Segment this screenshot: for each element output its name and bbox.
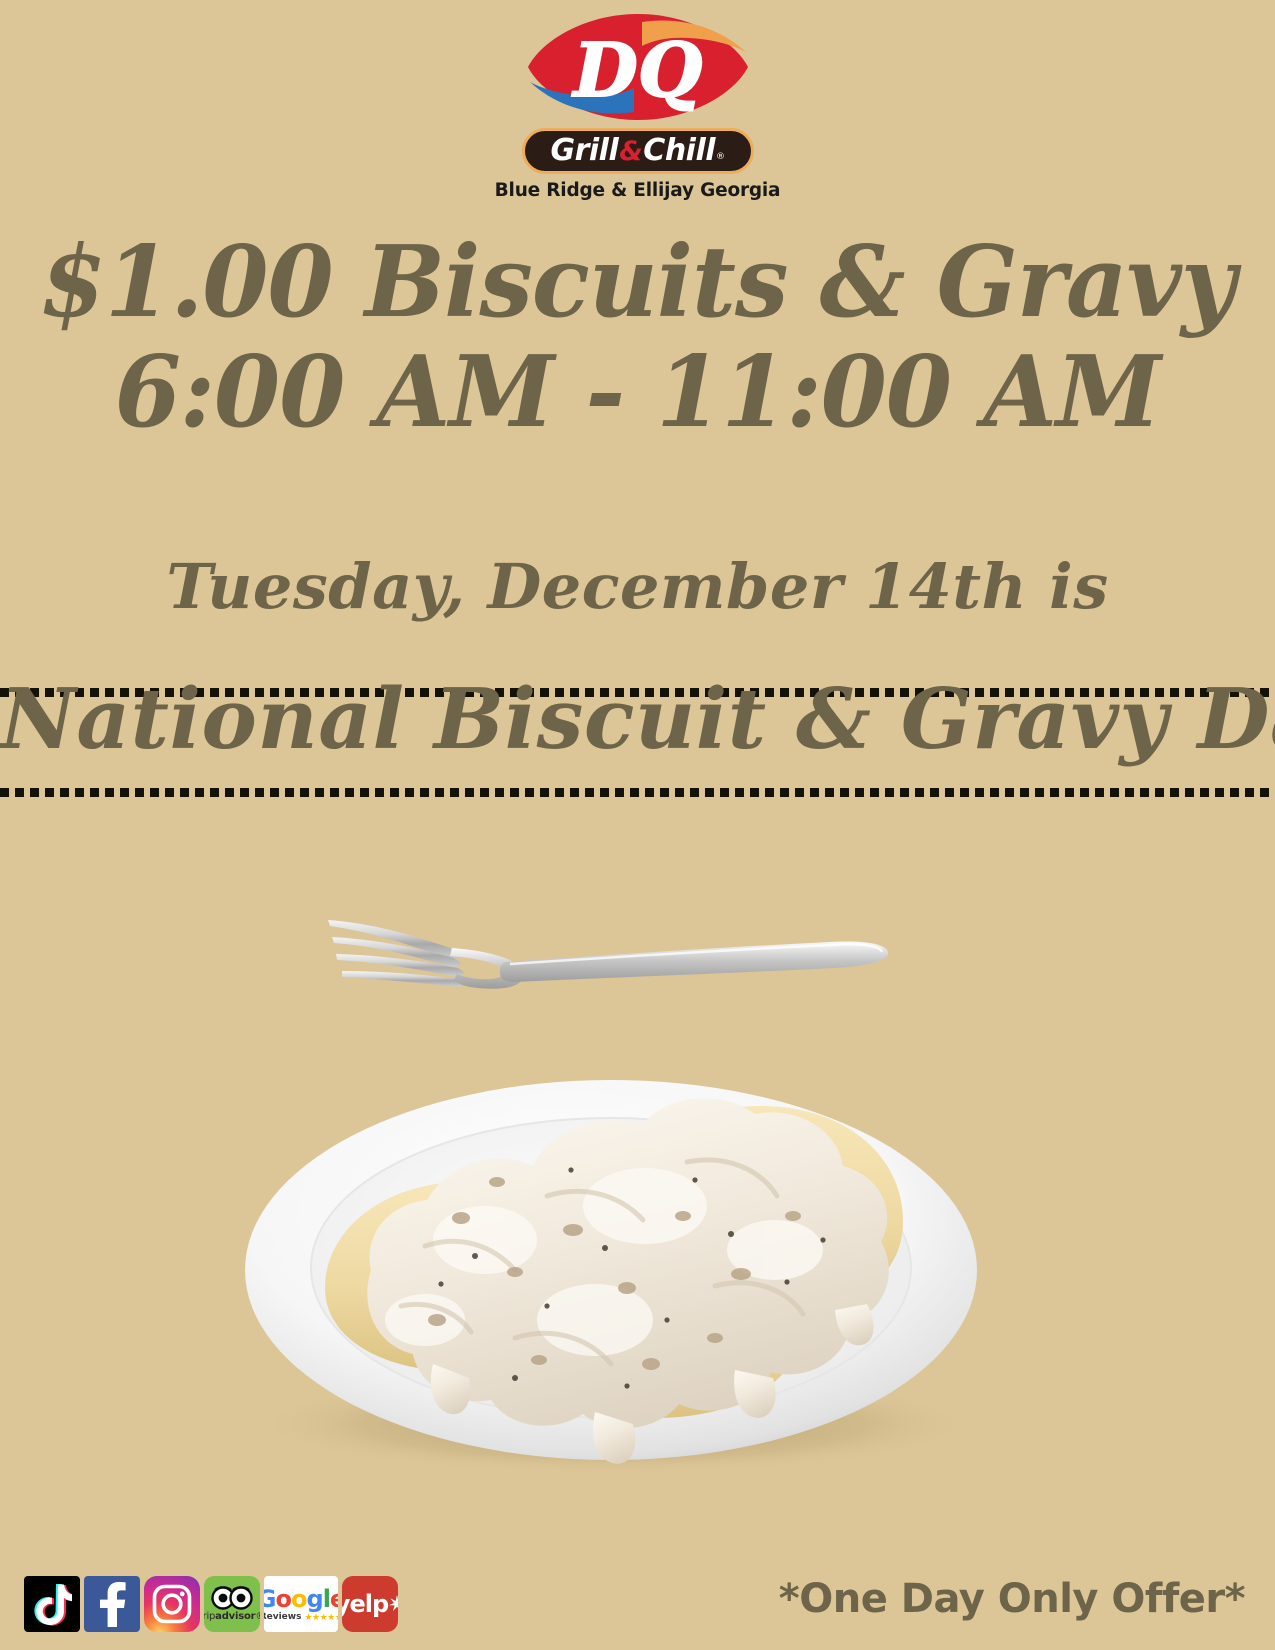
headline-time-line: 6:00 AM - 11:00 AM (19, 338, 1256, 448)
tiktok-icon[interactable] (24, 1576, 80, 1632)
promo-date-wrap: Tuesday, December 14th is (0, 556, 1275, 618)
grill-and-chill-text: Grill&Chill® (550, 136, 724, 166)
offer-disclaimer: *One Day Only Offer* (779, 1576, 1245, 1622)
promo-date-line: Tuesday, December 14th is (166, 550, 1108, 623)
instagram-icon[interactable] (144, 1576, 200, 1632)
promo-holiday-line: National Biscuit & Gravy Day (0, 670, 1275, 768)
facebook-icon[interactable] (84, 1576, 140, 1632)
yelp-wordmark: yelp (342, 1590, 398, 1618)
fork-illustration (310, 890, 910, 1010)
google-reviews-label: Reviews (264, 1613, 301, 1622)
headline-price-line: $1.00 Biscuits & Gravy (19, 228, 1256, 338)
google-wordmark: Google (264, 1587, 338, 1611)
flyer-canvas: DQ Grill&Chill® Blue Ridge & Ellijay Geo… (0, 0, 1275, 1650)
yelp-icon[interactable]: yelp (342, 1576, 398, 1632)
social-icons-row: tripadvisor® Google Reviews ★★★★★ yelp (24, 1576, 398, 1632)
chill-word: Chill (643, 136, 715, 166)
svg-text:DQ: DQ (571, 28, 702, 114)
divider-bottom (0, 788, 1275, 797)
headline-block: $1.00 Biscuits & Gravy 6:00 AM - 11:00 A… (0, 228, 1275, 448)
grill-and-chill-badge: Grill&Chill® (522, 128, 754, 174)
promo-holiday-wrap: National Biscuit & Gravy Day (0, 678, 1275, 761)
grill-word: Grill (550, 136, 618, 166)
brand-logo-block: DQ Grill&Chill® Blue Ridge & Ellijay Geo… (0, 8, 1275, 201)
google-reviews-icon[interactable]: Google Reviews ★★★★★ (264, 1576, 338, 1632)
rating-stars-icon: ★★★★★ (304, 1613, 338, 1622)
tripadvisor-label: tripadvisor® (204, 1611, 260, 1622)
tripadvisor-icon[interactable]: tripadvisor® (204, 1576, 260, 1632)
registered-trademark-icon: ® (715, 153, 725, 166)
dq-logo-mark: DQ (522, 8, 754, 126)
store-location-text: Blue Ridge & Ellijay Georgia (495, 180, 781, 201)
ampersand: & (618, 138, 643, 165)
biscuits-and-gravy-photo (175, 1020, 1045, 1480)
